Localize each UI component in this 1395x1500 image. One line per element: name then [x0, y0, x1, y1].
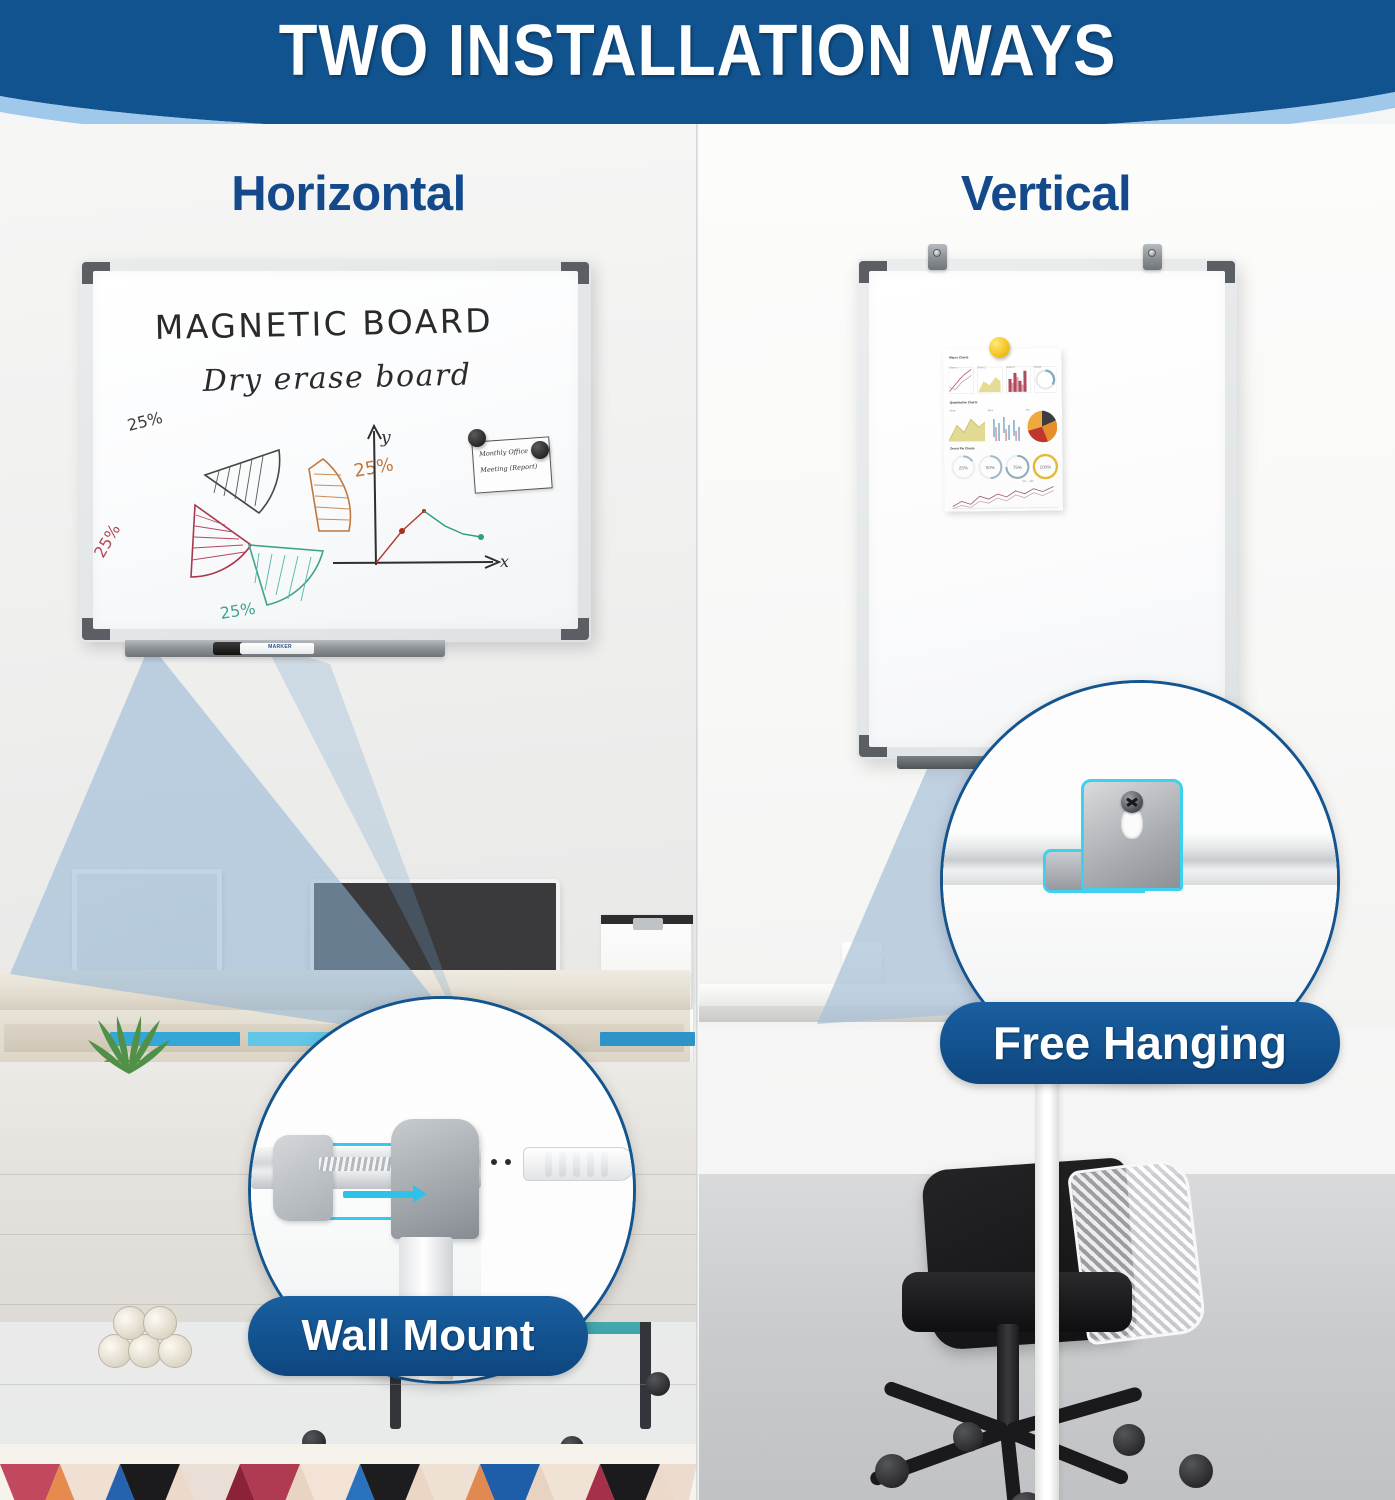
- whiteboard-surface-vertical: Macro Charts: [869, 271, 1225, 747]
- poster-bottom-line-chart: [950, 484, 1060, 509]
- panels-container: Horizontal MAGNETIC BOARD Dry erase boar…: [0, 124, 1395, 1500]
- marker-cap: [213, 642, 243, 655]
- marker-label: MARKER: [252, 644, 308, 650]
- hang-bracket-left: [928, 244, 947, 270]
- sticky-note-line-2: Meeting (Report): [480, 462, 537, 474]
- heading-horizontal: Horizontal: [0, 166, 697, 222]
- wm-dot-2: [505, 1159, 511, 1165]
- wall-mount-label: Wall Mount: [248, 1296, 588, 1376]
- whiteboard-surface-horizontal: MAGNETIC BOARD Dry erase board: [93, 271, 578, 629]
- chair-caster-1: [875, 1454, 909, 1488]
- heading-vertical: Vertical: [697, 166, 1395, 222]
- chair-caster-4: [1179, 1454, 1213, 1488]
- black-magnet-left: [468, 429, 486, 447]
- infographic-page: TWO INSTALLATION WAYS Horizontal MAGNETI…: [0, 0, 1395, 1500]
- poster-gauges: 25% 50% 75% 100%: [949, 451, 1059, 482]
- dashboard-poster: Macro Charts: [943, 348, 1063, 511]
- y-axis-label: y: [380, 428, 391, 448]
- pie-label-2: 25%: [219, 599, 257, 623]
- chair-caster-3: [1113, 1424, 1145, 1456]
- page-title: TWO INSTALLATION WAYS: [84, 10, 1312, 92]
- whiteboard-pie-chart: 25%: [93, 408, 395, 623]
- sticky-note-line-1: Monthly Office: [479, 447, 528, 458]
- poster-row-2-charts: [949, 406, 1057, 443]
- panel-vertical: Vertical Macro Charts: [697, 124, 1395, 1500]
- svg-text:50%: 50%: [986, 465, 995, 470]
- hang-bracket-right: [1143, 244, 1162, 270]
- hang-bracket-left-screw: [933, 249, 941, 257]
- poster-section-3: Donut Pie Charts: [950, 446, 974, 450]
- whiteboard-title-text: MAGNETIC BOARD: [154, 301, 493, 347]
- whiteboard-subtitle-text: Dry erase board: [201, 357, 472, 399]
- fh-screw-head: [1121, 791, 1143, 813]
- black-magnet-right: [531, 441, 549, 459]
- wm-end-cap: [273, 1135, 333, 1221]
- wm-insert-arrow-icon: [343, 1191, 415, 1198]
- x-axis-label: x: [500, 552, 509, 571]
- svg-text:25%: 25%: [959, 465, 968, 470]
- panel-horizontal: Horizontal MAGNETIC BOARD Dry erase boar…: [0, 124, 697, 1500]
- whiteboard-horizontal: MAGNETIC BOARD Dry erase board: [80, 260, 591, 642]
- chair-gas-cylinder: [997, 1324, 1019, 1434]
- fh-wall-band: [943, 885, 1340, 1005]
- pie-label-0: 25%: [125, 408, 164, 435]
- yellow-magnet: [989, 337, 1010, 358]
- poster-section-2: Quantitative Charts: [950, 400, 978, 404]
- wm-corner-bracket: [391, 1119, 479, 1239]
- free-hanging-label: Free Hanging: [940, 1002, 1340, 1084]
- hang-bracket-right-screw: [1148, 249, 1156, 257]
- black-mesh-chair-seat: [902, 1272, 1132, 1332]
- svg-text:75%: 75%: [1013, 465, 1022, 470]
- chair-caster-2: [953, 1422, 983, 1452]
- pie-label-1: 25%: [93, 521, 124, 561]
- panel-divider: [696, 124, 699, 1500]
- wm-dot-1: [491, 1159, 497, 1165]
- svg-text:100%: 100%: [1040, 464, 1052, 469]
- poster-section-1: Macro Charts: [949, 355, 968, 359]
